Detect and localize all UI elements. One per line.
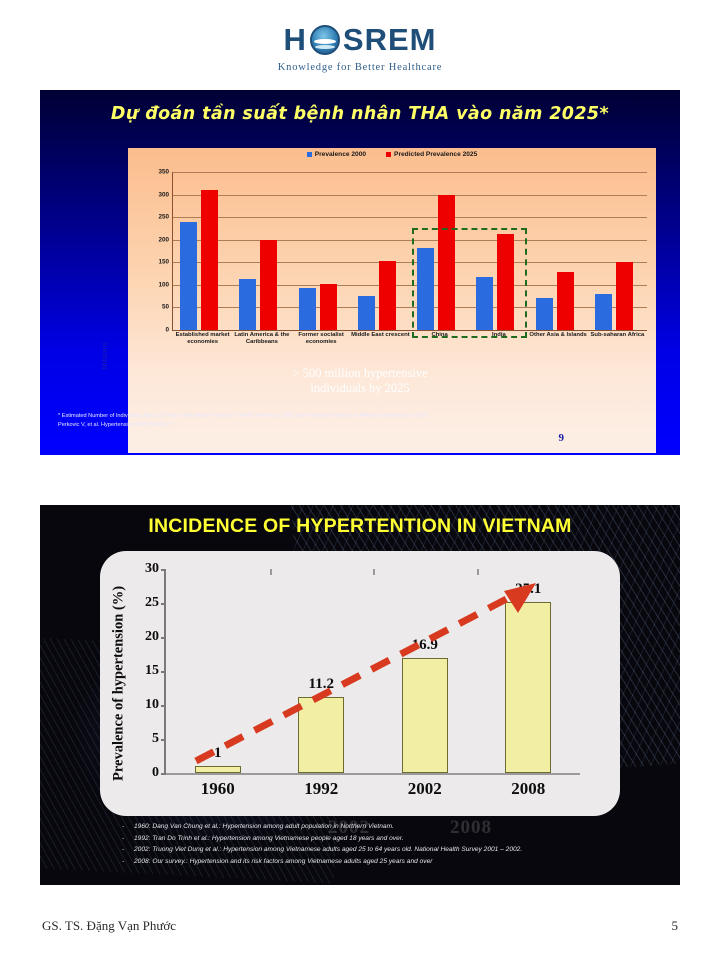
hosrem-logo: H SREM Knowledge for Better Healthcare [0, 22, 720, 73]
footer-presenter: GS. TS. Đặng Vạn Phước [42, 918, 176, 934]
chart1-bar-predicted-2025 [260, 240, 277, 330]
chart2-data-label: 1 [214, 745, 222, 762]
legend-swatch-icon [386, 152, 391, 157]
slide-2-title: INCIDENCE OF HYPERTENTION IN VIETNAM [40, 515, 680, 538]
logo-tagline: Knowledge for Better Healthcare [0, 62, 720, 73]
chart2-x-tick-label: 2002 [408, 779, 442, 799]
chart1-bar-group [173, 172, 232, 330]
chart2-plot-area: 05101520253019601199211.2200216.9200825.… [164, 569, 580, 775]
chart1-highlight-box [412, 228, 527, 338]
slide-2-footnote-text: 1992: Tran Do Trinh et al.: Hypertension… [134, 835, 404, 842]
chart2-bar [195, 766, 241, 773]
chart2-y-tick: 30 [145, 561, 159, 577]
chart1-bar-prevalence-2000 [239, 279, 256, 330]
chart1-bar-predicted-2025 [616, 262, 633, 330]
chart2-panel: Prevalence of hypertension (%) 051015202… [100, 551, 620, 816]
slide-2-footnote-text: 2002: Truong Viet Dung et al.: Hypertens… [134, 846, 522, 853]
chart1-x-tick-label: Sub-saharan Africa [588, 332, 647, 339]
callout-line-1: > 500 million hypertensive [40, 366, 680, 381]
chart2-bar [298, 697, 344, 773]
slide-1-footnote: * Estimated Number of Individuals Aged 2… [58, 412, 658, 429]
chart1-bar-group [292, 172, 351, 330]
legend-swatch-icon [307, 152, 312, 157]
callout-line-2: individuals by 2025 [40, 381, 680, 396]
chart2-bar-group: 16.9 [373, 569, 477, 773]
chart2-bar [402, 658, 448, 773]
bullet-dash-icon: - [122, 844, 134, 856]
chart1-y-tick: 0 [165, 327, 169, 334]
chart1-bar-group [232, 172, 291, 330]
slide-2-footnote-3: -2008: Our survey.: Hypertension and its… [122, 856, 642, 868]
chart1-bar-prevalence-2000 [358, 296, 375, 330]
chart1-bar-group [588, 172, 647, 330]
chart1-legend: Prevalence 2000Predicted Prevalence 2025 [128, 151, 656, 158]
chart2-y-tick: 5 [152, 731, 159, 747]
slide-1-hypertension-projection: Dự đoán tần suất bệnh nhân THA vào năm 2… [40, 90, 680, 455]
chart1-y-tick: 200 [158, 236, 169, 243]
chart1-panel: Prevalence 2000Predicted Prevalence 2025… [128, 148, 656, 453]
bullet-dash-icon: - [122, 856, 134, 868]
chart1-bar-prevalence-2000 [180, 222, 197, 330]
chart1-legend-label: Predicted Prevalence 2025 [394, 151, 477, 158]
chart2-y-tick: 10 [145, 697, 159, 713]
footer-page-number: 5 [672, 918, 679, 934]
slide-1-page-number: 9 [559, 432, 565, 444]
slide-2-footnote-text: 2008: Our survey.: Hypertension and its … [134, 858, 432, 865]
logo-text-right: SREM [343, 22, 437, 58]
slide-2-footnote-text: 1960: Dang Van Chung et al.: Hypertensio… [134, 823, 394, 830]
logo-text-left: H [284, 22, 307, 58]
bullet-dash-icon: - [122, 833, 134, 845]
chart1-x-tick-label: Established market economies [173, 332, 232, 347]
chart2-bar-group: 11.2 [270, 569, 374, 773]
chart1-bar-prevalence-2000 [536, 298, 553, 330]
chart2-bar [505, 602, 551, 773]
chart1-legend-item-1: Predicted Prevalence 2025 [386, 151, 477, 158]
chart1-y-tick: 100 [158, 281, 169, 288]
chart1-bar-group [529, 172, 588, 330]
chart2-data-label: 16.9 [412, 637, 438, 654]
slide-2-footnote-1: -1992: Tran Do Trinh et al.: Hypertensio… [122, 833, 642, 845]
footnote-line-2: Perkovic V, et al. Hypertension 2007;50:… [58, 421, 658, 430]
chart1-bar-group [351, 172, 410, 330]
chart1-bar-predicted-2025 [557, 272, 574, 330]
chart2-y-tick: 15 [145, 663, 159, 679]
chart1-legend-label: Prevalence 2000 [315, 151, 366, 158]
chart1-y-tick: 250 [158, 214, 169, 221]
chart2-y-tick: 20 [145, 629, 159, 645]
chart1-bar-prevalence-2000 [299, 288, 316, 330]
chart1-y-tick: 350 [158, 169, 169, 176]
chart2-x-tick-label: 1992 [304, 779, 338, 799]
bullet-dash-icon: - [122, 821, 134, 833]
chart1-y-tick: 300 [158, 191, 169, 198]
chart2-bar-group: 1 [166, 569, 270, 773]
chart2-x-tick-label: 1960 [201, 779, 235, 799]
logo-row: H SREM [284, 22, 437, 58]
chart1-bar-predicted-2025 [379, 261, 396, 330]
chart1-x-tick-label: Former socialist economies [292, 332, 351, 347]
chart1-x-tick-label: Middle East crescent [351, 332, 410, 339]
chart1-bar-predicted-2025 [201, 190, 218, 330]
chart2-y-axis-label: Prevalence of hypertension (%) [108, 567, 130, 799]
slide-2-footnote-0: -1960: Dang Van Chung et al.: Hypertensi… [122, 821, 642, 833]
chart2-bar-group: 25.1 [477, 569, 581, 773]
slide-page: H SREM Knowledge for Better Healthcare D… [0, 0, 720, 960]
chart1-legend-item-0: Prevalence 2000 [307, 151, 366, 158]
chart2-x-tick-label: 2008 [511, 779, 545, 799]
chart2-y-tick: 25 [145, 595, 159, 611]
chart2-data-label: 11.2 [309, 676, 334, 693]
chart2-data-label: 25.1 [515, 581, 541, 598]
slide-2-footnote-2: -2002: Truong Viet Dung et al.: Hyperten… [122, 844, 642, 856]
chart2-y-tick: 0 [152, 765, 159, 781]
slide-2-footnotes: -1960: Dang Van Chung et al.: Hypertensi… [122, 821, 642, 867]
slide-2-vietnam-incidence: INCIDENCE OF HYPERTENTION IN VIETNAM Pre… [40, 505, 680, 885]
chart1-bar-prevalence-2000 [595, 294, 612, 330]
chart1-x-tick-label: Latin America & the Caribbeans [232, 332, 291, 347]
chart1-y-tick: 150 [158, 259, 169, 266]
slide-1-callout: > 500 million hypertensiveindividuals by… [40, 366, 680, 396]
chart1-plot-area: 050100150200250300350Established market … [172, 172, 647, 331]
chart1-y-tick: 50 [162, 304, 169, 311]
chart1-bar-predicted-2025 [320, 284, 337, 330]
slide-1-title: Dự đoán tần suất bệnh nhân THA vào năm 2… [40, 104, 680, 124]
globe-icon [310, 25, 340, 55]
chart1-x-tick-label: Other Asia & Islands [529, 332, 588, 339]
footnote-line-1: * Estimated Number of Individuals Aged 2… [58, 412, 658, 421]
